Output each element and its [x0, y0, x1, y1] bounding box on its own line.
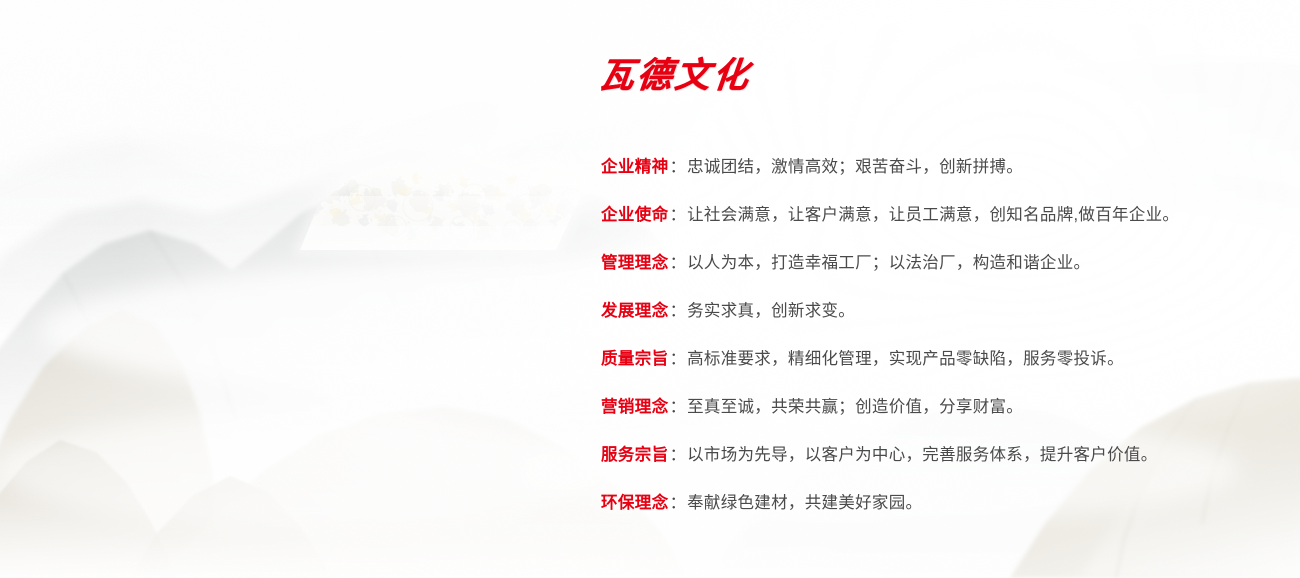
creed-item-corporate-mission: 企业使命：让社会满意，让客户满意，让员工满意，创知名品牌,做百年企业。 [601, 203, 1261, 251]
creed-separator: ： [669, 254, 688, 272]
creed-label: 质量宗旨 [601, 350, 669, 368]
creed-separator: ： [669, 302, 688, 320]
creed-label: 管理理念 [601, 254, 669, 272]
creed-item-development-philosophy: 发展理念：务实求真，创新求变。 [601, 299, 1261, 347]
creed-label: 发展理念 [601, 302, 669, 320]
page-title: 瓦德文化 [597, 58, 753, 93]
creed-label: 企业精神 [601, 158, 669, 176]
creed-text: 以人为本，打造幸福工厂；以法治厂，构造和谐企业。 [687, 254, 1090, 272]
creed-text: 忠诚团结，激情高效；艰苦奋斗，创新拼搏。 [687, 158, 1023, 176]
creed-label: 环保理念 [601, 494, 669, 512]
creed-separator: ： [669, 206, 688, 224]
creed-text: 务实求真，创新求变。 [687, 302, 855, 320]
creed-text: 至真至诚，共荣共赢；创造价值，分享财富。 [687, 398, 1023, 416]
culture-creed-list: 企业精神：忠诚团结，激情高效；艰苦奋斗，创新拼搏。 企业使命：让社会满意，让客户… [601, 155, 1261, 539]
creed-separator: ： [669, 494, 688, 512]
creed-item-quality-purpose: 质量宗旨：高标准要求，精细化管理，实现产品零缺陷，服务零投诉。 [601, 347, 1261, 395]
creed-item-corporate-spirit: 企业精神：忠诚团结，激情高效；艰苦奋斗，创新拼搏。 [601, 155, 1261, 203]
culture-page: 瓦德文化 企业精神：忠诚团结，激情高效；艰苦奋斗，创新拼搏。 企业使命：让社会满… [0, 0, 1300, 578]
creed-label: 营销理念 [601, 398, 669, 416]
creed-label: 服务宗旨 [601, 446, 669, 464]
creed-item-environmental-philosophy: 环保理念：奉献绿色建材，共建美好家园。 [601, 491, 1261, 539]
creed-item-service-purpose: 服务宗旨：以市场为先导，以客户为中心，完善服务体系，提升客户价值。 [601, 443, 1261, 491]
creed-label: 企业使命 [601, 206, 669, 224]
creed-text: 奉献绿色建材，共建美好家园。 [687, 494, 922, 512]
creed-item-marketing-philosophy: 营销理念：至真至诚，共荣共赢；创造价值，分享财富。 [601, 395, 1261, 443]
creed-separator: ： [669, 158, 688, 176]
creed-separator: ： [669, 350, 688, 368]
creed-text: 以市场为先导，以客户为中心，完善服务体系，提升客户价值。 [687, 446, 1157, 464]
creed-separator: ： [669, 446, 688, 464]
creed-item-management-philosophy: 管理理念：以人为本，打造幸福工厂；以法治厂，构造和谐企业。 [601, 251, 1261, 299]
creed-text: 高标准要求，精细化管理，实现产品零缺陷，服务零投诉。 [687, 350, 1124, 368]
creed-text: 让社会满意，让客户满意，让员工满意，创知名品牌,做百年企业。 [687, 206, 1179, 224]
creed-separator: ： [669, 398, 688, 416]
